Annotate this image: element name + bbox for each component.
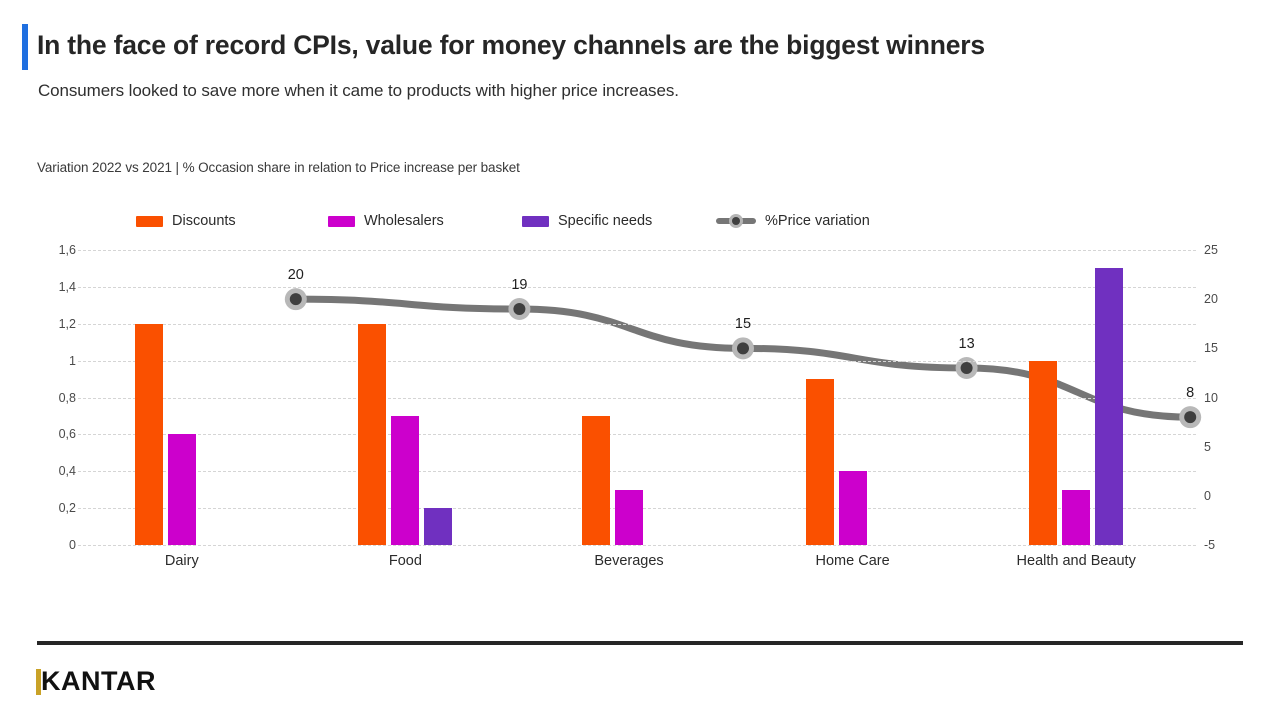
bar-wholesalers-food[interactable] xyxy=(391,416,419,545)
bar-specific-needs-health-and-beauty[interactable] xyxy=(1095,268,1123,545)
legend-item-wholesalers[interactable]: Wholesalers xyxy=(328,210,444,232)
page-title: In the face of record CPIs, value for mo… xyxy=(37,30,1217,61)
y-axis-right-tick: 10 xyxy=(1204,391,1254,405)
legend-label: %Price variation xyxy=(765,213,870,229)
y-axis-left-tick: 0,6 xyxy=(28,427,88,441)
logo-text: KANTAR xyxy=(41,666,156,697)
line-marker-ring xyxy=(732,337,754,359)
y-axis-left-tick: 0,2 xyxy=(28,501,88,515)
title-accent-bar xyxy=(22,24,28,70)
x-axis-label: Food xyxy=(389,553,422,569)
legend-item-discounts[interactable]: Discounts xyxy=(136,210,236,232)
bar-discounts-health-and-beauty[interactable] xyxy=(1029,361,1057,545)
line-marker-dot[interactable] xyxy=(961,362,973,374)
y-axis-right-tick: 15 xyxy=(1204,341,1254,355)
y-axis-right-tick: 5 xyxy=(1204,440,1254,454)
bar-specific-needs-food[interactable] xyxy=(424,508,452,545)
page-subtitle: Consumers looked to save more when it ca… xyxy=(38,81,679,101)
data-point-label: 8 xyxy=(1186,385,1194,401)
data-point-label: 19 xyxy=(511,277,527,293)
line-marker-dot[interactable] xyxy=(513,303,525,315)
data-point-label: 13 xyxy=(959,336,975,352)
y-axis-right-tick: 20 xyxy=(1204,292,1254,306)
footer-divider xyxy=(37,641,1243,645)
y-axis-left-tick: 1,2 xyxy=(28,317,88,331)
bar-wholesalers-home-care[interactable] xyxy=(839,471,867,545)
bar-discounts-beverages[interactable] xyxy=(582,416,610,545)
y-axis-right-tick: -5 xyxy=(1204,538,1254,552)
kantar-logo: KANTAR xyxy=(36,666,156,697)
legend-swatch-icon xyxy=(136,216,163,227)
legend-item-specific-needs[interactable]: Specific needs xyxy=(522,210,652,232)
bar-wholesalers-beverages[interactable] xyxy=(615,490,643,545)
bar-discounts-food[interactable] xyxy=(358,324,386,545)
line-marker-dot[interactable] xyxy=(1184,411,1196,423)
y-axis-right-tick: 0 xyxy=(1204,489,1254,503)
x-axis-label: Home Care xyxy=(816,553,890,569)
y-axis-left-tick: 0 xyxy=(28,538,88,552)
y-axis-left-tick: 1,6 xyxy=(28,243,88,257)
gridline xyxy=(78,545,1196,546)
data-point-label: 15 xyxy=(735,316,751,332)
bar-discounts-dairy[interactable] xyxy=(135,324,163,545)
x-axis-label: Health and Beauty xyxy=(1017,553,1136,569)
line-marker-dot[interactable] xyxy=(737,342,749,354)
y-axis-left-tick: 0,8 xyxy=(28,391,88,405)
chart-plot-area: 00,20,40,60,811,21,41,6-50510152025Dairy… xyxy=(78,250,1196,545)
legend-swatch-icon xyxy=(522,216,549,227)
slide: In the face of record CPIs, value for mo… xyxy=(0,0,1280,720)
legend-label: Wholesalers xyxy=(364,213,444,229)
gridline xyxy=(78,324,1196,325)
bar-wholesalers-dairy[interactable] xyxy=(168,434,196,545)
line-marker-ring xyxy=(508,298,530,320)
legend-line-marker-icon xyxy=(716,214,756,228)
gridline xyxy=(78,287,1196,288)
legend-label: Specific needs xyxy=(558,213,652,229)
line-marker-dot[interactable] xyxy=(290,293,302,305)
y-axis-left-tick: 0,4 xyxy=(28,464,88,478)
legend-label: Discounts xyxy=(172,213,236,229)
gridline xyxy=(78,250,1196,251)
line-marker-ring xyxy=(285,288,307,310)
y-axis-left-tick: 1,4 xyxy=(28,280,88,294)
x-axis-label: Beverages xyxy=(594,553,663,569)
y-axis-left-tick: 1 xyxy=(28,354,88,368)
bar-discounts-home-care[interactable] xyxy=(806,379,834,545)
line-marker-ring xyxy=(1179,406,1201,428)
legend-swatch-icon xyxy=(328,216,355,227)
y-axis-right-tick: 25 xyxy=(1204,243,1254,257)
data-point-label: 20 xyxy=(288,267,304,283)
chart-note: Variation 2022 vs 2021 | % Occasion shar… xyxy=(37,160,520,175)
legend-item-price-variation[interactable]: %Price variation xyxy=(716,210,870,232)
bar-wholesalers-health-and-beauty[interactable] xyxy=(1062,490,1090,545)
x-axis-label: Dairy xyxy=(165,553,199,569)
